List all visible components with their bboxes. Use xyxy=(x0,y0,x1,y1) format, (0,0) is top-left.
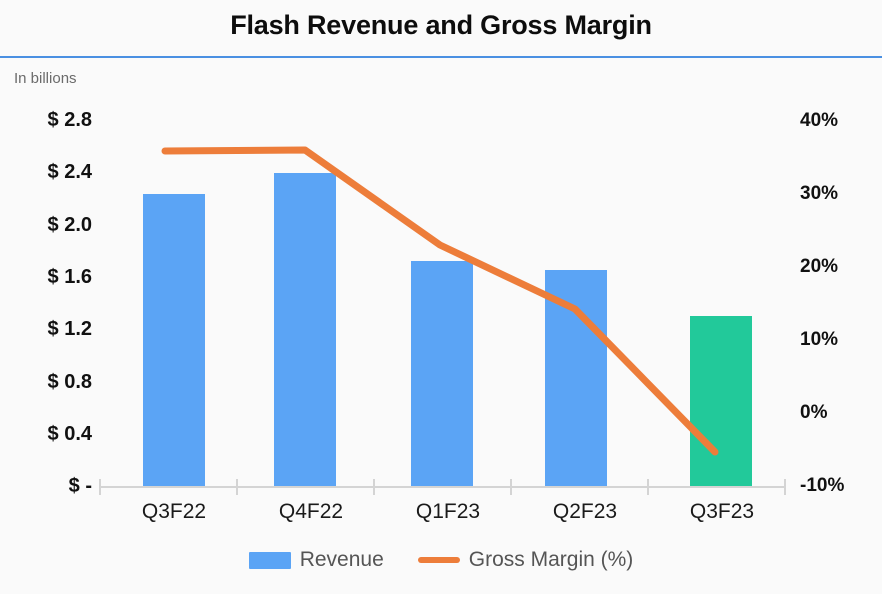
x-axis-tick-5 xyxy=(784,479,786,495)
y-axis-right-tick-1: 30% xyxy=(800,183,876,205)
bar-q3f23[interactable] xyxy=(690,316,752,486)
y-axis-left-tick-6: $ 0.4 xyxy=(8,423,92,446)
y-axis-left-tick-2: $ 2.0 xyxy=(8,214,92,237)
legend-item-gross-margin[interactable]: Gross Margin (%) xyxy=(418,548,634,572)
bar-q2f23[interactable] xyxy=(545,270,607,486)
chart-page: Flash Revenue and Gross Margin In billio… xyxy=(0,0,882,594)
y-axis-left-tick-1: $ 2.4 xyxy=(8,161,92,184)
y-axis-left-tick-3: $ 1.6 xyxy=(8,266,92,289)
y-axis-right-tick-0: 40% xyxy=(800,110,876,132)
y-axis-left-tick-0: $ 2.8 xyxy=(8,109,92,132)
x-axis-tick-1 xyxy=(236,479,238,495)
x-axis-tick-3 xyxy=(510,479,512,495)
y-axis-right-tick-2: 20% xyxy=(800,256,876,278)
x-axis-tick-2 xyxy=(373,479,375,495)
y-axis-left-tick-4: $ 1.2 xyxy=(8,318,92,341)
legend-bar-swatch-icon xyxy=(249,552,291,569)
x-axis-label-q3f22: Q3F22 xyxy=(109,500,239,524)
x-axis-label-q1f23: Q1F23 xyxy=(383,500,513,524)
chart-legend: Revenue Gross Margin (%) xyxy=(0,548,882,572)
legend-line-swatch-icon xyxy=(418,557,460,563)
y-axis-right-tick-3: 10% xyxy=(800,329,876,351)
plot-area: $ 2.8 $ 2.4 $ 2.0 $ 1.6 $ 1.2 $ 0.8 $ 0.… xyxy=(0,0,882,594)
x-axis-line xyxy=(99,486,786,488)
y-axis-left-tick-5: $ 0.8 xyxy=(8,371,92,394)
x-axis-label-q4f22: Q4F22 xyxy=(246,500,376,524)
legend-label-revenue: Revenue xyxy=(300,548,384,572)
y-axis-right-tick-5: -10% xyxy=(800,475,876,497)
bar-q3f22[interactable] xyxy=(143,194,205,486)
legend-item-revenue[interactable]: Revenue xyxy=(249,548,384,572)
x-axis-label-q2f23: Q2F23 xyxy=(520,500,650,524)
legend-label-gross-margin: Gross Margin (%) xyxy=(469,548,634,572)
x-axis-tick-4 xyxy=(647,479,649,495)
bar-q1f23[interactable] xyxy=(411,261,473,486)
x-axis-label-q3f23: Q3F23 xyxy=(657,500,787,524)
y-axis-right-tick-4: 0% xyxy=(800,402,876,424)
y-axis-left-tick-7: $ - xyxy=(8,475,92,498)
x-axis-tick-0 xyxy=(99,479,101,495)
bar-q4f22[interactable] xyxy=(274,173,336,486)
